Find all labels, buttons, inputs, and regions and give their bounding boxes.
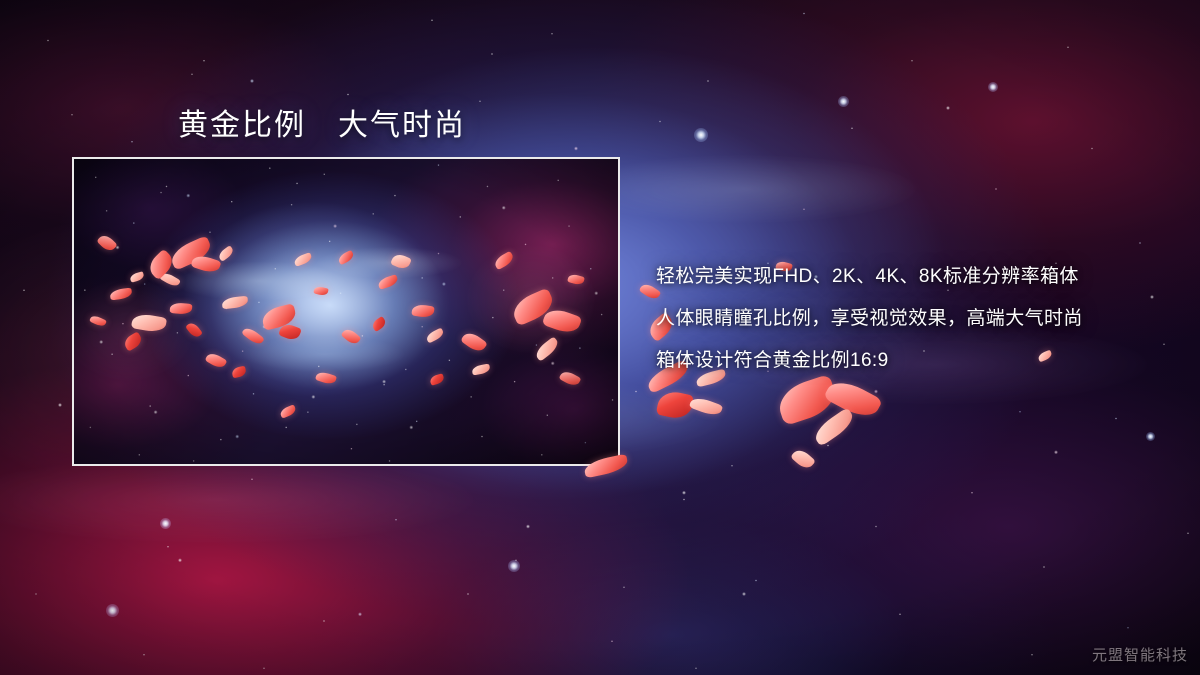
- feature-line: 箱体设计符合黄金比例16:9: [656, 340, 1186, 382]
- bright-star-icon: [1146, 432, 1155, 441]
- bright-star-icon: [838, 96, 849, 107]
- petal-shape: [790, 446, 816, 471]
- inner-vignette: [74, 159, 618, 464]
- company-watermark: 元盟智能科技: [1092, 644, 1188, 665]
- bright-star-icon: [988, 82, 998, 92]
- bright-star-icon: [694, 128, 708, 142]
- feature-description: 轻松完美实现FHD、2K、4K、8K标准分辨率箱体 人体眼睛瞳孔比例，享受视觉效…: [656, 256, 1186, 382]
- led-cabinet-preview-frame[interactable]: [72, 157, 620, 466]
- page-title: 黄金比例 大气时尚: [178, 100, 466, 144]
- bright-star-icon: [160, 518, 171, 529]
- presentation-slide: 黄金比例 大气时尚 轻松完美实现FHD、2K、4K、8K标准分辨率箱体 人体眼睛…: [0, 0, 1200, 675]
- feature-line: 人体眼睛瞳孔比例，享受视觉效果，高端大气时尚: [656, 298, 1186, 340]
- bright-star-icon: [106, 604, 119, 617]
- feature-line: 轻松完美实现FHD、2K、4K、8K标准分辨率箱体: [656, 256, 1186, 298]
- petal-shape: [689, 395, 724, 418]
- bright-star-icon: [508, 560, 520, 572]
